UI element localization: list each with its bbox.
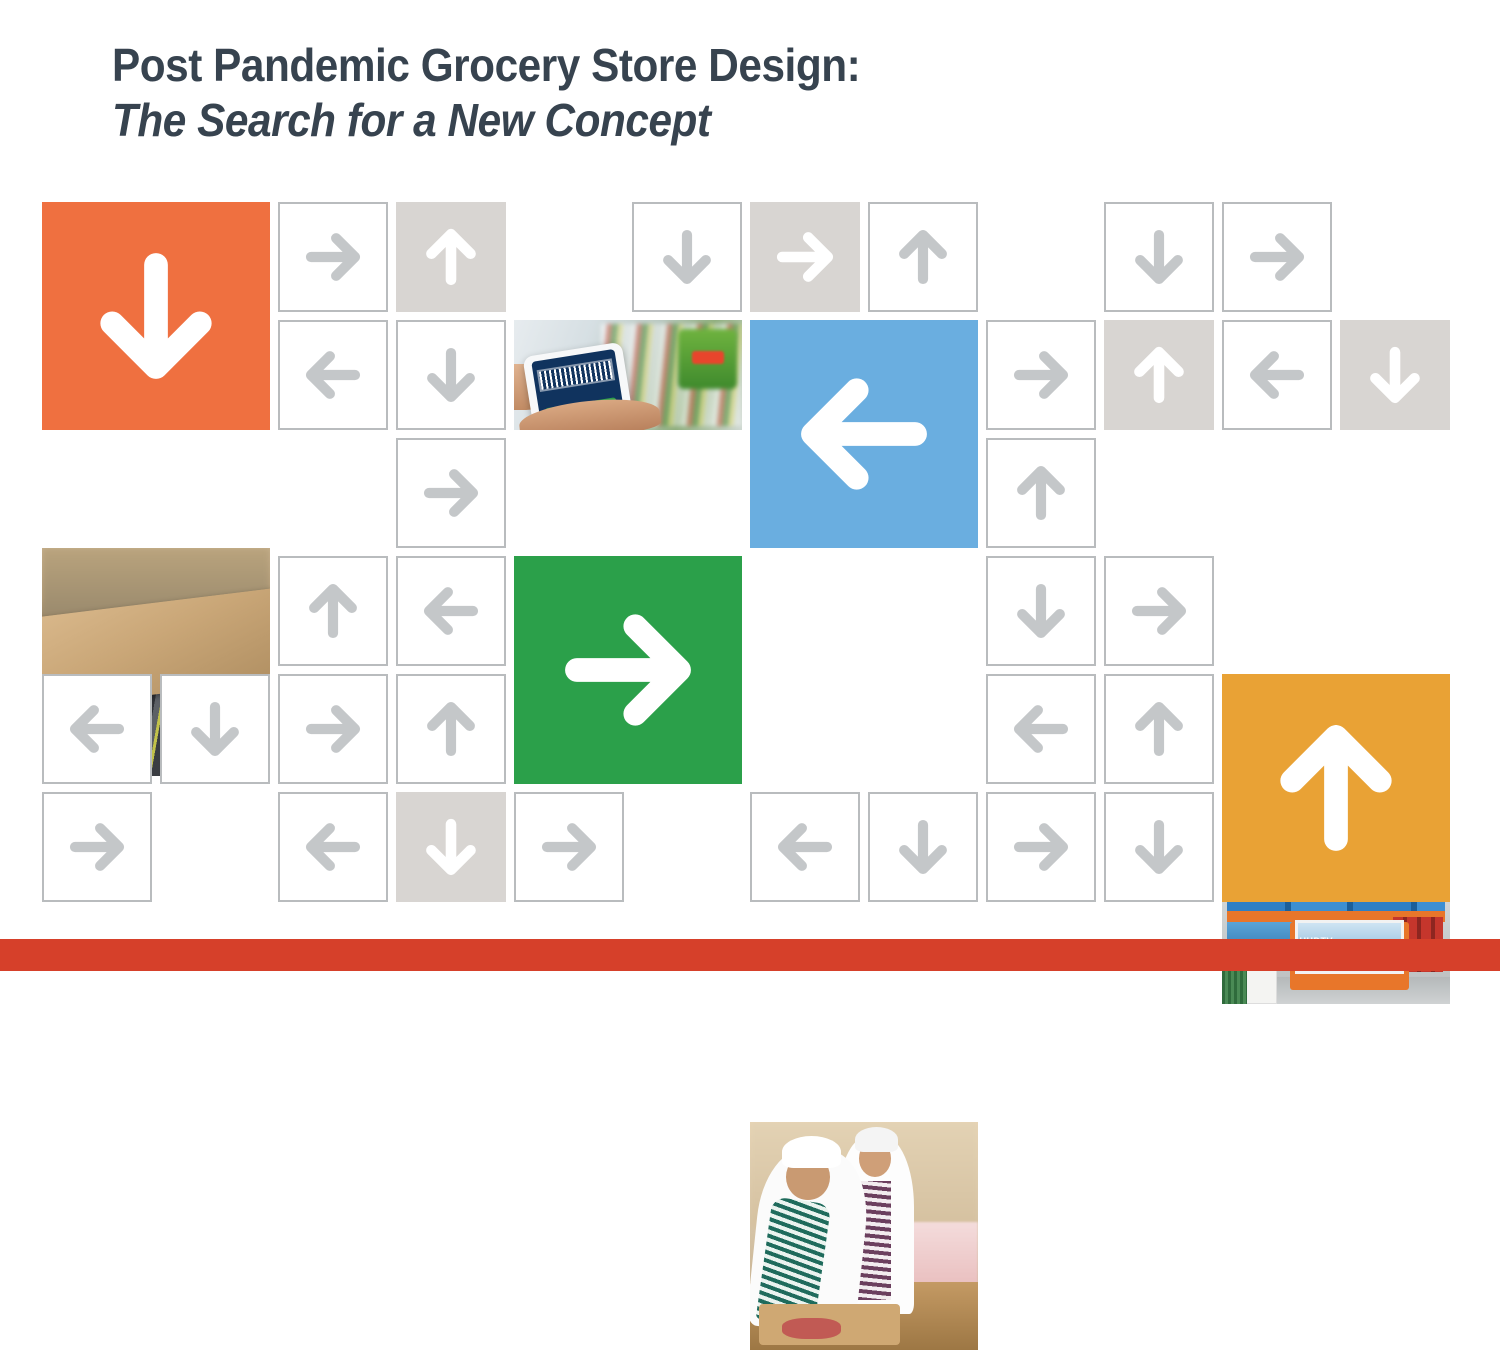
arrow-left-outline — [396, 556, 506, 666]
photo-shopper-scanning-barcode — [514, 320, 742, 430]
arrow-left-outline — [278, 792, 388, 902]
hero-arrow-left-blue — [750, 320, 978, 548]
arrow-down-outline — [986, 556, 1096, 666]
page-title: Post Pandemic Grocery Store Design: The … — [112, 38, 1312, 148]
butcher-primary-hat — [782, 1136, 841, 1168]
arrow-up-filled — [1104, 320, 1214, 430]
arrow-down-outline — [1104, 792, 1214, 902]
arrow-left-outline — [42, 674, 152, 784]
arrow-right-outline — [986, 320, 1096, 430]
arrow-down-outline — [1104, 202, 1214, 312]
arrow-up-outline — [868, 202, 978, 312]
arrow-down-outline — [160, 674, 270, 784]
arrow-right-outline — [396, 438, 506, 548]
arrow-left-outline — [750, 792, 860, 902]
arrow-down-outline — [868, 792, 978, 902]
arrow-right-outline — [278, 202, 388, 312]
arrow-right-outline — [986, 792, 1096, 902]
arrow-left-outline — [278, 320, 388, 430]
arrow-down-filled — [1340, 320, 1450, 430]
arrow-right-outline — [514, 792, 624, 902]
arrow-mosaic-grid: UHDTVVIZIO — [42, 202, 1458, 904]
meat-on-board — [782, 1318, 841, 1339]
hero-arrow-down-orange — [42, 202, 270, 430]
arrow-left-outline — [986, 674, 1096, 784]
arrow-up-outline — [1104, 674, 1214, 784]
hero-arrow-up-amber — [1222, 674, 1450, 902]
arrow-left-outline — [1222, 320, 1332, 430]
page-title-line-2: The Search for a New Concept — [112, 92, 1216, 148]
arrow-down-filled — [396, 792, 506, 902]
arrow-up-outline — [278, 556, 388, 666]
arrow-up-outline — [986, 438, 1096, 548]
arrow-right-outline — [42, 792, 152, 902]
arrow-up-filled — [396, 202, 506, 312]
arrow-down-outline — [396, 320, 506, 430]
arrow-right-outline — [278, 674, 388, 784]
bottom-accent-band — [0, 939, 1500, 971]
arrow-right-outline — [1104, 556, 1214, 666]
aisle-price-tag — [692, 351, 724, 364]
photo-butchers-at-counter — [750, 1122, 978, 1350]
arrow-right-outline — [1222, 202, 1332, 312]
butcher-second-hat — [855, 1127, 898, 1152]
arrow-up-outline — [396, 674, 506, 784]
hero-arrow-right-green — [514, 556, 742, 784]
arrow-down-outline — [632, 202, 742, 312]
arrow-right-filled — [750, 202, 860, 312]
page-title-line-1: Post Pandemic Grocery Store Design: — [112, 38, 1216, 92]
